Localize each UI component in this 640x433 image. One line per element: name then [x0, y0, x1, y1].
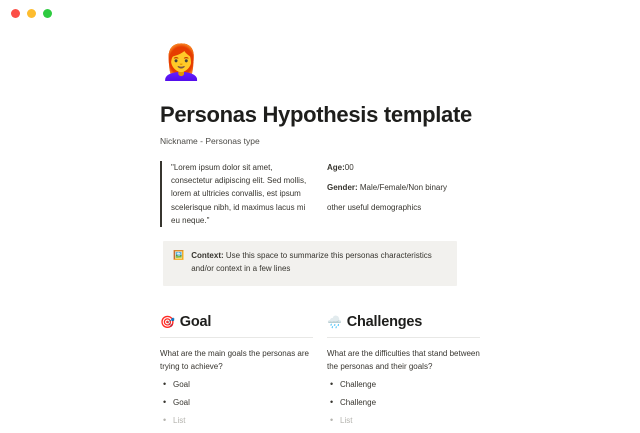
context-label: Context: [191, 251, 223, 260]
section-goal: 🎯 Goal What are the main goals the perso… [160, 314, 313, 433]
fact-row-age[interactable]: Age:00 [327, 161, 480, 174]
profile-columns: "Lorem ipsum dolor sit amet, consectetur… [160, 158, 480, 227]
cloud-with-rain-icon: 🌧️ [327, 316, 342, 328]
document-content: 👩‍🦰 Personas Hypothesis template Nicknam… [160, 46, 480, 433]
persona-quote[interactable]: "Lorem ipsum dolor sit amet, consectetur… [160, 161, 313, 227]
maximize-button[interactable] [43, 9, 52, 18]
page-subtitle[interactable]: Nickname - Personas type [160, 136, 480, 146]
context-callout-text: Context: Use this space to summarize thi… [191, 250, 446, 276]
challenges-heading[interactable]: 🌧️ Challenges [327, 314, 480, 330]
challenges-list: Challenge Challenge List [327, 379, 480, 427]
challenges-divider [327, 337, 480, 338]
page-title[interactable]: Personas Hypothesis template [160, 102, 480, 128]
age-label: Age: [327, 163, 345, 172]
section-challenges: 🌧️ Challenges What are the difficulties … [327, 314, 480, 433]
list-item[interactable]: Goal [173, 379, 313, 391]
goal-divider [160, 337, 313, 338]
demographics-column: Age:00 Gender: Male/Female/Non binary ot… [327, 158, 480, 227]
sections-row: 🎯 Goal What are the main goals the perso… [160, 314, 480, 433]
challenges-description[interactable]: What are the difficulties that stand bet… [327, 347, 480, 373]
fact-row-other[interactable]: other useful demographics [327, 201, 480, 214]
context-description: Use this space to summarize this persona… [191, 251, 432, 273]
window-chrome [0, 0, 640, 26]
list-item-placeholder[interactable]: List [173, 415, 313, 427]
page-avatar-icon[interactable]: 👩‍🦰 [160, 46, 480, 86]
list-item[interactable]: Challenge [340, 397, 480, 409]
goal-description[interactable]: What are the main goals the personas are… [160, 347, 313, 373]
framed-picture-icon: 🖼️ [173, 250, 184, 276]
minimize-button[interactable] [27, 9, 36, 18]
list-item-placeholder[interactable]: List [340, 415, 480, 427]
goal-heading-label: Goal [180, 314, 211, 330]
goal-heading[interactable]: 🎯 Goal [160, 314, 313, 330]
challenges-heading-label: Challenges [347, 314, 422, 330]
direct-hit-icon: 🎯 [160, 316, 175, 328]
gender-label: Gender: [327, 183, 358, 192]
close-button[interactable] [11, 9, 20, 18]
demographics-list: Age:00 Gender: Male/Female/Non binary ot… [327, 161, 480, 215]
traffic-lights [11, 9, 52, 18]
fact-row-gender[interactable]: Gender: Male/Female/Non binary [327, 181, 480, 194]
age-value: 00 [345, 163, 354, 172]
list-item[interactable]: Goal [173, 397, 313, 409]
goal-list: Goal Goal List [160, 379, 313, 427]
context-callout[interactable]: 🖼️ Context: Use this space to summarize … [163, 241, 457, 286]
quote-column: "Lorem ipsum dolor sit amet, consectetur… [160, 158, 313, 227]
document-page: 👩‍🦰 Personas Hypothesis template Nicknam… [0, 46, 640, 433]
gender-value: Male/Female/Non binary [358, 183, 447, 192]
list-item[interactable]: Challenge [340, 379, 480, 391]
other-demographics-value: other useful demographics [327, 203, 421, 212]
